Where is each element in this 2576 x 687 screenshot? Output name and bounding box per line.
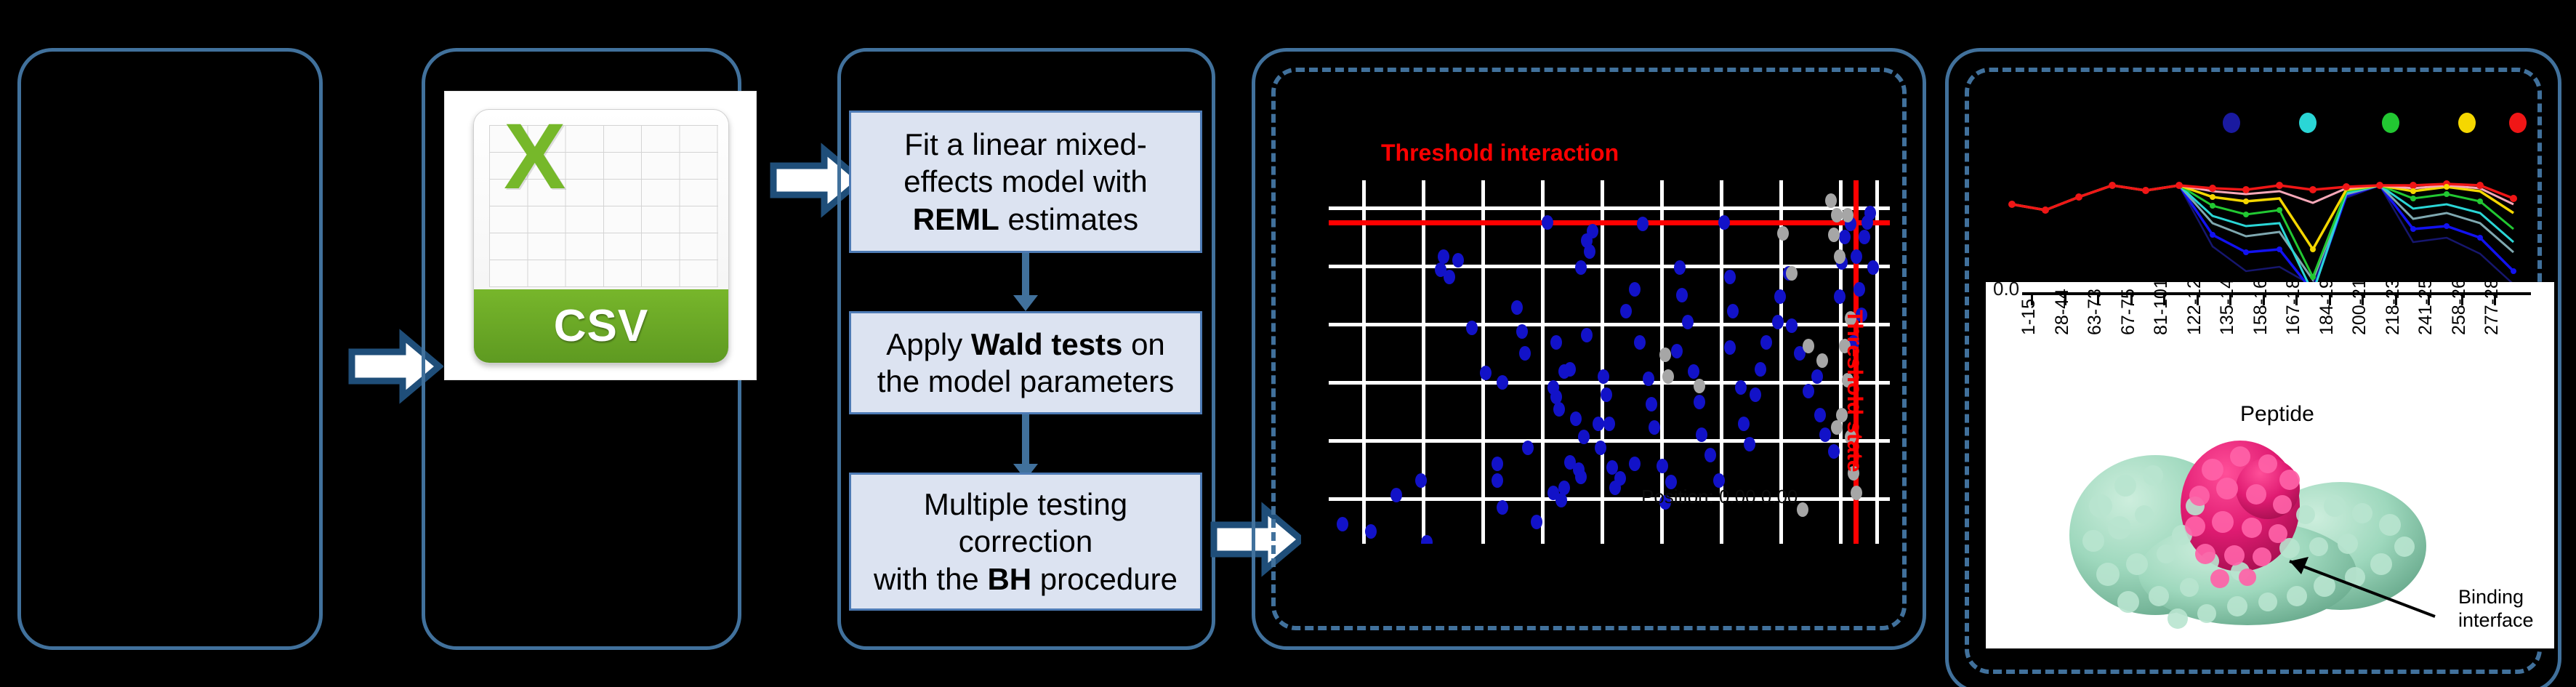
scatter-point — [1598, 369, 1609, 384]
scatter-point — [1814, 408, 1826, 422]
scatter-point — [1671, 344, 1683, 358]
scatter-point — [1564, 362, 1576, 377]
threshold-scatter-figure: Threshold interaction — [1301, 135, 1897, 571]
x-axis-tick-label: 67-75 — [2118, 289, 2139, 335]
scatter-point — [1570, 411, 1582, 426]
scatter-point — [1480, 366, 1492, 380]
scatter-point — [1492, 473, 1503, 488]
csv-format-label: CSV — [474, 289, 729, 363]
scatter-point — [1851, 486, 1862, 500]
scatter-point — [1466, 321, 1478, 335]
scatter-point — [1694, 379, 1705, 393]
scatter-point — [1497, 375, 1508, 390]
scatter-plot-area: Position: 0.00 0.00 — [1329, 180, 1890, 544]
scatter-point — [1842, 208, 1853, 222]
x-axis-tick-label: 258-266 — [2449, 282, 2470, 335]
scatter-point — [1581, 328, 1593, 342]
scatter-point — [1718, 215, 1730, 230]
x-axis-tick-label: 1-15 — [2018, 299, 2040, 335]
legend-dot-5 — [2509, 113, 2527, 133]
scatter-point — [1662, 369, 1674, 384]
x-axis-tick-label: 167-180 — [2283, 282, 2304, 335]
peptide-axis-and-structure-card: 0.0 1-1528-4463-7367-7581-101122-129135-… — [1986, 282, 2554, 648]
scatter-point — [1853, 282, 1865, 297]
peptide-line-chart — [1996, 156, 2518, 302]
x-axis-tick-label: 218-237 — [2383, 282, 2404, 335]
scatter-points-layer — [1329, 180, 1890, 544]
scatter-point — [1637, 217, 1649, 231]
scatter-point — [1755, 362, 1766, 377]
scatter-point — [1696, 427, 1707, 442]
scatter-point — [1620, 304, 1632, 318]
scatter-point — [1497, 500, 1508, 515]
scatter-point — [1531, 515, 1542, 529]
scatter-point — [1744, 437, 1755, 451]
scatter-point — [1803, 384, 1814, 398]
scatter-point — [1659, 347, 1671, 362]
scatter-point — [1724, 340, 1736, 355]
scatter-point — [1614, 471, 1626, 486]
scatter-point — [1584, 244, 1595, 259]
scatter-point — [1516, 324, 1528, 339]
scatter-point — [1803, 339, 1814, 353]
csv-file-icon: X CSV — [445, 92, 756, 379]
scatter-point — [1694, 395, 1705, 409]
scatter-point — [1390, 488, 1402, 502]
scatter-point — [1575, 470, 1587, 484]
scatter-point — [1444, 270, 1455, 284]
x-axis-tick-label: 200-214 — [2349, 282, 2370, 335]
scatter-point — [1634, 335, 1646, 350]
scatter-point — [1867, 260, 1879, 275]
x-axis-tick-label: 28-44 — [2052, 289, 2073, 335]
scatter-point — [1657, 459, 1668, 473]
scatter-point — [1851, 249, 1862, 264]
scatter-point — [1595, 441, 1606, 455]
scatter-point — [1727, 304, 1739, 318]
legend-dot-2 — [2299, 113, 2317, 133]
scatter-point — [1593, 417, 1604, 431]
scatter-point — [1819, 427, 1831, 442]
scatter-point — [1735, 380, 1747, 395]
scatter-point — [1603, 417, 1615, 431]
scatter-point — [1421, 535, 1433, 545]
scatter-point — [1750, 387, 1761, 402]
scatter-point — [1629, 457, 1641, 471]
scatter-point — [1629, 282, 1641, 297]
legend-dot-3 — [2382, 113, 2399, 133]
scatter-point — [1438, 249, 1449, 264]
scatter-point — [1828, 228, 1840, 242]
scatter-point — [1760, 335, 1772, 350]
scatter-point — [1519, 346, 1531, 361]
scatter-point — [1674, 260, 1686, 275]
scatter-point — [1575, 260, 1587, 275]
scatter-point — [1643, 371, 1654, 386]
scatter-point — [1828, 444, 1840, 459]
scatter-point — [1811, 369, 1823, 384]
protein-structure-illustration — [2050, 419, 2457, 637]
x-axis-tick-label: 184-199 — [2317, 282, 2338, 335]
x-axis-tick-label: 63-73 — [2085, 289, 2106, 335]
scatter-point — [1415, 473, 1427, 488]
scatter-point — [1365, 524, 1377, 539]
scatter-point — [1704, 448, 1716, 462]
scatter-point — [1522, 441, 1534, 455]
scatter-point — [1797, 502, 1808, 517]
excel-x-icon: X — [484, 115, 586, 231]
scatter-point — [1542, 215, 1553, 230]
scatter-point — [1578, 430, 1590, 444]
x-axis-tick-label: 81-101 — [2151, 282, 2172, 335]
scatter-point — [1774, 289, 1786, 304]
scatter-point — [1649, 420, 1660, 435]
scatter-point — [1682, 315, 1694, 329]
scatter-point — [1786, 266, 1798, 281]
scatter-point — [1676, 288, 1688, 302]
scatter-point — [1646, 397, 1657, 411]
csv-badge: X CSV — [473, 109, 730, 363]
scatter-point — [1724, 270, 1736, 284]
legend-dot-4 — [2458, 113, 2476, 133]
scatter-point — [1738, 417, 1750, 431]
x-axis-tick-label: 122-129 — [2184, 282, 2205, 335]
threshold-state-label: Threshold state — [1842, 310, 1867, 472]
scatter-point — [1834, 289, 1846, 304]
scatter-point — [1777, 226, 1789, 241]
scatter-point — [1831, 420, 1843, 435]
scatter-point — [1831, 208, 1843, 222]
scatter-title: Threshold interaction — [1381, 140, 1619, 166]
scatter-point — [1550, 335, 1562, 350]
scatter-point — [1555, 493, 1567, 507]
scatter-point — [1688, 364, 1699, 379]
x-axis-tick-label: 277-284 — [2482, 282, 2503, 335]
scatter-point — [1816, 353, 1828, 368]
scatter-point — [1553, 402, 1565, 417]
scatter-point — [1452, 253, 1464, 268]
scatter-point — [1772, 315, 1784, 329]
scatter-point — [1864, 206, 1876, 220]
workflow-diagram: X CSV Fit a linear mixed- effects model … — [0, 0, 2576, 687]
x-axis-tick-label: 158-166 — [2250, 282, 2271, 335]
legend-dot-1 — [2223, 113, 2240, 133]
scatter-point — [1492, 457, 1503, 471]
scatter-point — [1337, 517, 1348, 531]
x-axis-tick-label: 135-144 — [2217, 282, 2238, 335]
scatter-faint-annotation: Position: 0.00 0.00 — [1641, 486, 1798, 508]
scatter-point — [1786, 318, 1798, 333]
scatter-point — [1601, 387, 1612, 402]
scatter-point — [1859, 230, 1870, 244]
binding-interface-callout: Binding interface — [2458, 586, 2534, 632]
step-panel-input — [17, 48, 323, 650]
scatter-point — [1839, 230, 1851, 244]
x-axis-tick-label: 241-257 — [2415, 282, 2436, 335]
scatter-point — [1834, 249, 1846, 264]
scatter-point — [1825, 193, 1837, 208]
step-panel-statistics — [837, 48, 1215, 650]
scatter-point — [1511, 300, 1523, 315]
